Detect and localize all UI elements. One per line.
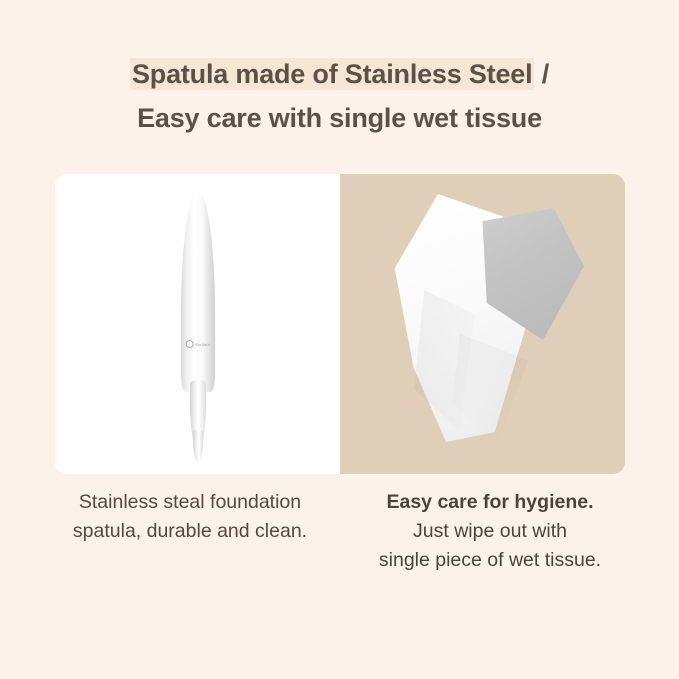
headline-highlight: Spatula made of Stainless Steel bbox=[130, 58, 534, 90]
spatula-tip bbox=[192, 430, 203, 462]
caption-left-line-2: spatula, durable and clean. bbox=[40, 517, 340, 546]
caption-left: Stainless steal foundation spatula, dura… bbox=[40, 488, 340, 575]
spatula-icon: Stellabl bbox=[168, 192, 228, 462]
caption-left-line-1: Stainless steal foundation bbox=[40, 488, 340, 517]
product-infographic: Spatula made of Stainless Steel / Easy c… bbox=[0, 0, 679, 679]
captions: Stainless steal foundation spatula, dura… bbox=[40, 488, 640, 575]
headline: Spatula made of Stainless Steel / Easy c… bbox=[0, 52, 679, 140]
wet-tissue-icon bbox=[392, 194, 582, 444]
caption-right-line-1: Easy care for hygiene. bbox=[340, 488, 640, 517]
caption-right-line-2: Just wipe out with bbox=[340, 517, 640, 546]
headline-line-1-tail: / bbox=[534, 59, 549, 89]
panel-tissue bbox=[340, 174, 625, 474]
headline-line-1: Spatula made of Stainless Steel / bbox=[0, 52, 679, 96]
image-panels: Stellabl bbox=[55, 174, 625, 474]
brand-logo: Stellabl bbox=[185, 340, 210, 348]
headline-line-2: Easy care with single wet tissue bbox=[0, 96, 679, 140]
brand-logo-text: Stellabl bbox=[195, 342, 210, 347]
panel-spatula: Stellabl bbox=[55, 174, 340, 474]
spatula-blade bbox=[181, 192, 215, 392]
brand-mark-icon bbox=[185, 340, 193, 348]
caption-right: Easy care for hygiene. Just wipe out wit… bbox=[340, 488, 640, 575]
caption-right-line-3: single piece of wet tissue. bbox=[340, 546, 640, 575]
